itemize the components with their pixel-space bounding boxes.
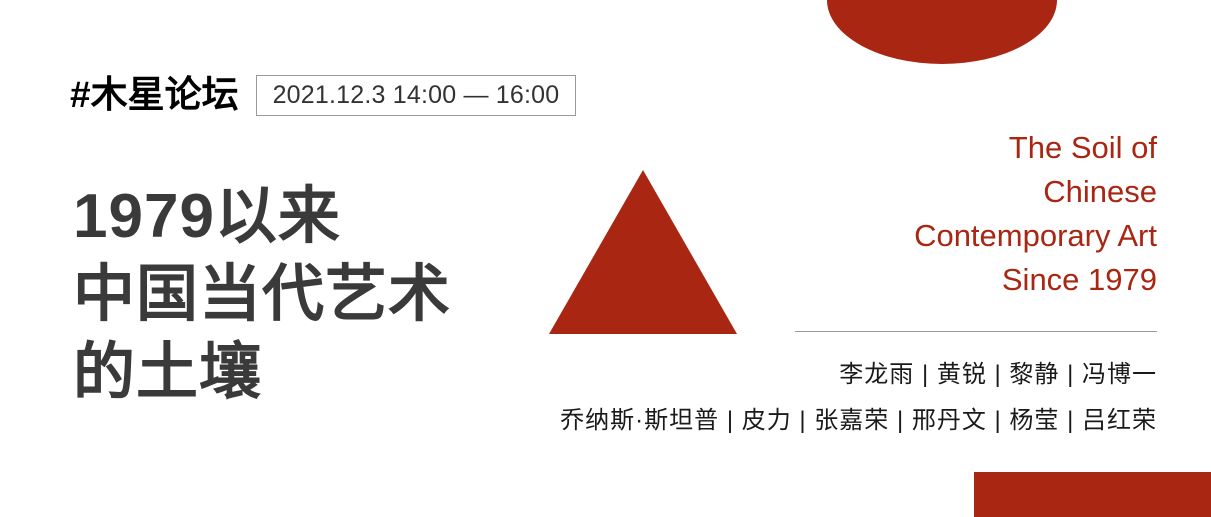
rectangle-decoration <box>974 472 1211 517</box>
page-title: 1979以来 中国当代艺术 的土壤 <box>73 178 451 412</box>
page-title-line-2: 中国当代艺术 <box>73 256 451 334</box>
triangle-decoration <box>549 170 737 334</box>
date-time-text: 2021.12.3 14:00 — 16:00 <box>273 81 560 109</box>
english-title-line-1: The Soil of <box>737 126 1157 170</box>
speaker-list: 李龙雨 | 黄锐 | 黎静 | 冯博一 乔纳斯·斯坦普 | 皮力 | 张嘉荣 |… <box>397 352 1157 444</box>
page-title-line-3: 的土壤 <box>73 334 451 412</box>
header-row: #木星论坛 2021.12.3 14:00 — 16:00 <box>70 72 576 118</box>
page-title-line-1: 1979以来 <box>73 178 451 256</box>
date-time-box: 2021.12.3 14:00 — 16:00 <box>256 75 577 116</box>
speaker-list-line-2: 乔纳斯·斯坦普 | 皮力 | 张嘉荣 | 邢丹文 | 杨莹 | 吕红荣 <box>397 398 1157 444</box>
divider-line <box>795 331 1157 332</box>
english-title-line-3: Contemporary Art <box>737 214 1157 258</box>
speaker-list-line-1: 李龙雨 | 黄锐 | 黎静 | 冯博一 <box>397 352 1157 398</box>
semicircle-decoration <box>827 0 1057 64</box>
english-title-line-4: Since 1979 <box>737 258 1157 302</box>
forum-tag: #木星论坛 <box>70 72 239 118</box>
english-title-line-2: Chinese <box>737 170 1157 214</box>
english-title: The Soil of Chinese Contemporary Art Sin… <box>737 126 1157 302</box>
semicircle-shape <box>827 0 1057 64</box>
poster-canvas: #木星论坛 2021.12.3 14:00 — 16:00 1979以来 中国当… <box>0 0 1211 517</box>
